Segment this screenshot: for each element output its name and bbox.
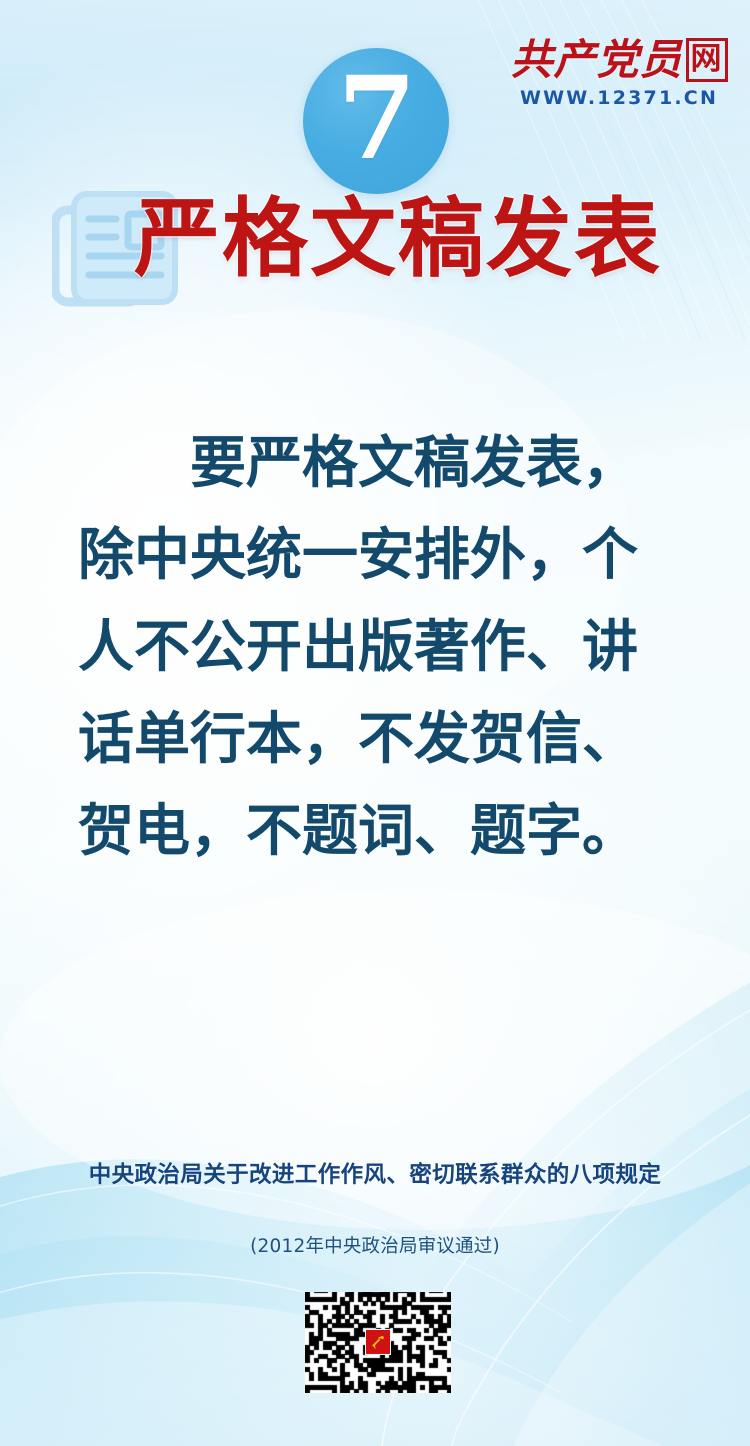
body-paragraph: 要严格文稿发表，除中央统一安排外，个人不公开出版著作、讲话单行本，不发贺信、贺电… — [78, 418, 674, 878]
qr-code[interactable] — [305, 1292, 451, 1393]
page-title: 严格文稿发表 — [134, 184, 662, 296]
site-logo-url: WWW.12371.CN — [510, 87, 728, 109]
party-emblem-icon — [365, 1328, 391, 1354]
site-logo[interactable]: 共产党员网 WWW.12371.CN — [510, 38, 728, 109]
footer-regulation-title: 中央政治局关于改进工作作风、密切联系群众的八项规定 — [0, 1157, 750, 1189]
title-row: 严格文稿发表 — [0, 186, 750, 312]
site-logo-name-main: 共产党员 — [510, 35, 682, 84]
site-logo-name-boxed: 网 — [686, 38, 728, 82]
poster-canvas: 7 共产党员网 WWW.12371.CN 严格文稿发表 要严格文稿发表，除中 — [0, 0, 750, 1446]
step-number-badge: 7 — [303, 48, 449, 194]
footer-regulation-subtitle: (2012年中央政治局审议通过) — [0, 1232, 750, 1258]
site-logo-name: 共产党员网 — [510, 38, 728, 82]
step-number: 7 — [337, 61, 416, 175]
